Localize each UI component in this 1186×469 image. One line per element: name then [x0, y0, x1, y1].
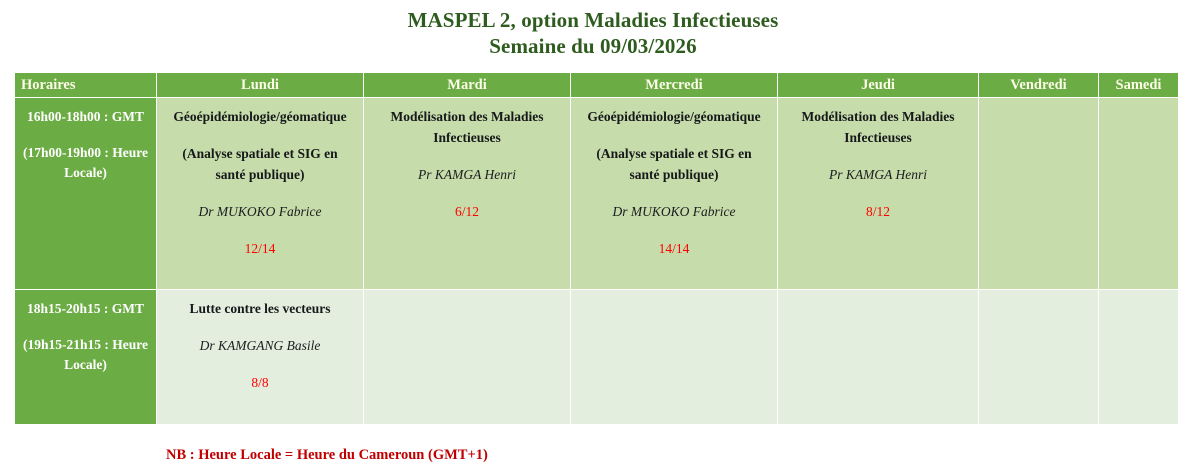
course-title: Géoépidémiologie/géomatique [166, 106, 354, 127]
column-header-mardi: Mardi [364, 73, 570, 97]
session-cell-mercredi[interactable]: Géoépidémiologie/géomatique (Analyse spa… [571, 98, 777, 289]
time-slot-gmt: 16h00-18h00 : GMT [15, 107, 156, 127]
course-teacher: Dr MUKOKO Fabrice [580, 201, 768, 222]
column-header-horaires: Horaires [15, 73, 156, 97]
table-row: 18h15-20h15 : GMT (19h15-21h15 : Heure L… [15, 290, 1178, 424]
time-slot-cell: 18h15-20h15 : GMT (19h15-21h15 : Heure L… [15, 290, 156, 424]
time-slot-local: (17h00-19h00 : Heure Locale) [15, 143, 156, 183]
empty-cell-placeholder [988, 106, 1089, 107]
session-cell-mardi[interactable]: Modélisation des Maladies Infectieuses P… [364, 98, 570, 289]
course-teacher: Dr KAMGANG Basile [166, 335, 354, 356]
session-cell-vendredi[interactable] [979, 98, 1098, 289]
course-progress-count: 14/14 [580, 238, 768, 259]
session-cell-lundi[interactable]: Géoépidémiologie/géomatique (Analyse spa… [157, 98, 363, 289]
course-title: Modélisation des Maladies Infectieuses [373, 106, 561, 148]
empty-cell-placeholder [373, 298, 561, 299]
course-progress-count: 8/8 [166, 372, 354, 393]
course-teacher: Pr KAMGA Henri [373, 164, 561, 185]
session-cell-samedi[interactable] [1099, 290, 1178, 424]
course-progress-count: 12/14 [166, 238, 354, 259]
course-title: Modélisation des Maladies Infectieuses [787, 106, 969, 148]
empty-cell-placeholder [988, 298, 1089, 299]
footer-note: NB : Heure Locale = Heure du Cameroun (G… [166, 447, 488, 464]
session-cell-samedi[interactable] [1099, 98, 1178, 289]
column-header-vendredi: Vendredi [979, 73, 1098, 97]
session-cell-jeudi[interactable]: Modélisation des Maladies Infectieuses P… [778, 98, 978, 289]
time-slot-gmt: 18h15-20h15 : GMT [15, 299, 156, 319]
course-title: Lutte contre les vecteurs [166, 298, 354, 319]
time-slot-cell: 16h00-18h00 : GMT (17h00-19h00 : Heure L… [15, 98, 156, 289]
course-teacher: Dr MUKOKO Fabrice [166, 201, 354, 222]
page-title: MASPEL 2, option Maladies Infectieuses S… [0, 0, 1186, 59]
session-cell-vendredi[interactable] [979, 290, 1098, 424]
column-header-mercredi: Mercredi [571, 73, 777, 97]
column-header-lundi: Lundi [157, 73, 363, 97]
title-line-2: Semaine du 09/03/2026 [0, 33, 1186, 59]
course-progress-count: 8/12 [787, 201, 969, 222]
course-title: Géoépidémiologie/géomatique [580, 106, 768, 127]
column-header-jeudi: Jeudi [778, 73, 978, 97]
course-subtitle: (Analyse spatiale et SIG en santé publiq… [166, 143, 354, 185]
table-row: 16h00-18h00 : GMT (17h00-19h00 : Heure L… [15, 98, 1178, 289]
empty-cell-placeholder [1108, 298, 1169, 299]
session-cell-jeudi[interactable] [778, 290, 978, 424]
time-slot-local: (19h15-21h15 : Heure Locale) [15, 335, 156, 375]
table-header-row: Horaires Lundi Mardi Mercredi Jeudi Vend… [15, 73, 1178, 97]
course-teacher: Pr KAMGA Henri [787, 164, 969, 185]
column-header-samedi: Samedi [1099, 73, 1178, 97]
schedule-table: Horaires Lundi Mardi Mercredi Jeudi Vend… [14, 72, 1179, 425]
schedule-page: MASPEL 2, option Maladies Infectieuses S… [0, 0, 1186, 469]
session-cell-mercredi[interactable] [571, 290, 777, 424]
course-subtitle: (Analyse spatiale et SIG en santé publiq… [580, 143, 768, 185]
empty-cell-placeholder [580, 298, 768, 299]
session-cell-lundi[interactable]: Lutte contre les vecteurs Dr KAMGANG Bas… [157, 290, 363, 424]
title-line-1: MASPEL 2, option Maladies Infectieuses [0, 7, 1186, 33]
session-cell-mardi[interactable] [364, 290, 570, 424]
course-progress-count: 6/12 [373, 201, 561, 222]
schedule-table-wrapper: Horaires Lundi Mardi Mercredi Jeudi Vend… [14, 72, 1175, 425]
empty-cell-placeholder [787, 298, 969, 299]
empty-cell-placeholder [1108, 106, 1169, 107]
